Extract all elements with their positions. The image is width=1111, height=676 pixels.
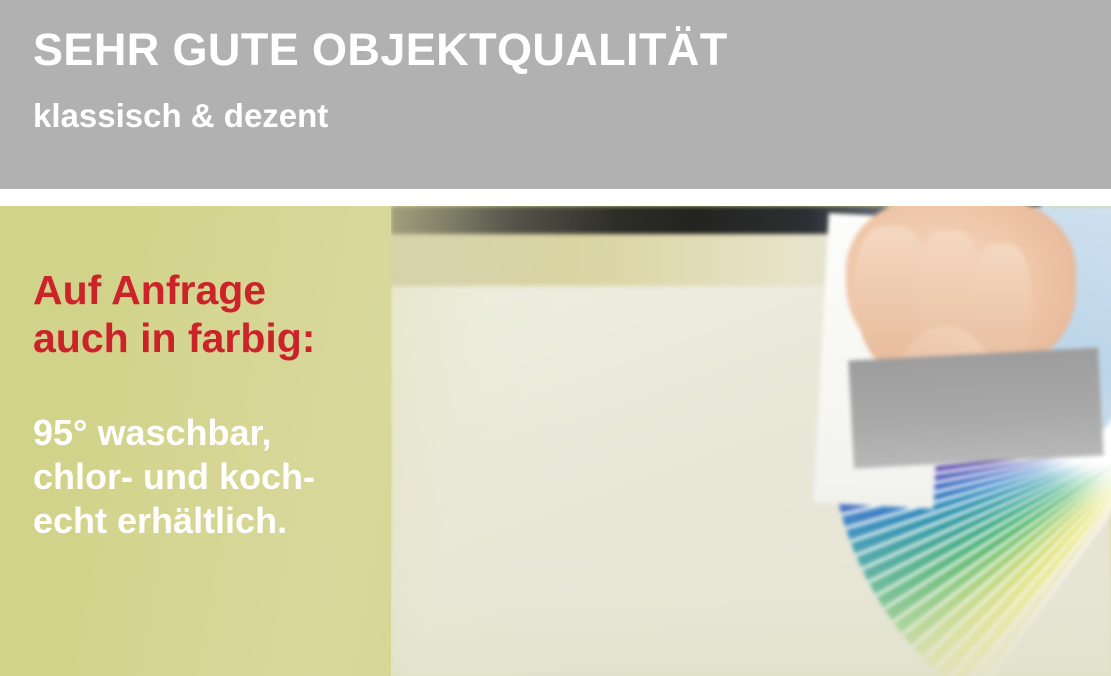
color-fan-photo bbox=[391, 206, 1111, 676]
gray-swatch-card bbox=[848, 348, 1103, 469]
panel-headline: Auf Anfrage auch in farbig: bbox=[33, 266, 315, 363]
header-banner: SEHR GUTE OBJEKTQUALITÄT klassisch & dez… bbox=[0, 0, 1111, 189]
promo-banner-page: SEHR GUTE OBJEKTQUALITÄT klassisch & dez… bbox=[0, 0, 1111, 676]
content-panel: Auf Anfrage auch in farbig: 95° waschbar… bbox=[0, 206, 1111, 676]
page-title: SEHR GUTE OBJEKTQUALITÄT bbox=[33, 26, 1111, 73]
panel-text-block: Auf Anfrage auch in farbig: 95° waschbar… bbox=[33, 266, 315, 542]
photo-inner bbox=[391, 206, 1111, 676]
panel-body-copy: 95° waschbar, chlor- und koch- echt erhä… bbox=[33, 411, 315, 543]
page-subtitle: klassisch & dezent bbox=[33, 99, 1111, 134]
